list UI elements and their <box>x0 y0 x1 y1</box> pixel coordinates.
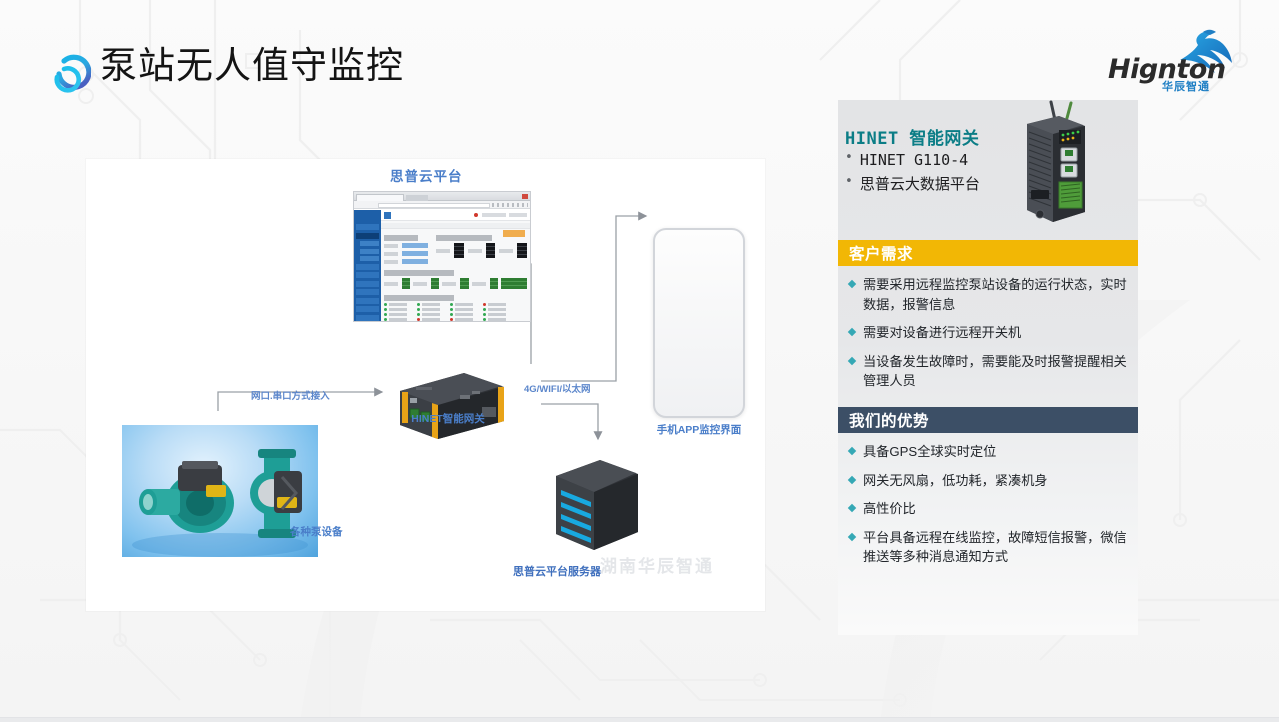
phone-mockup <box>653 228 745 418</box>
dual-circle-logo-icon <box>33 39 91 97</box>
customer-needs-item: 需要对设备进行远程开关机 <box>849 323 1130 343</box>
customer-needs-item-label: 当设备发生故障时，需要能及时报警提醒相关管理人员 <box>863 352 1130 391</box>
page-title: 泵站无人值守监控 <box>100 42 404 90</box>
customer-needs-item-label: 需要采用远程监控泵站设备的运行状态，实时数据，报警信息 <box>863 275 1130 314</box>
customer-needs-item-label: 需要对设备进行远程开关机 <box>863 323 1021 343</box>
pump-caption: 各种泵设备 <box>290 524 343 539</box>
advantages-list: 具备GPS全球实时定位 网关无风扇，低功耗，紧凑机身 高性价比 平台具备远程在线… <box>838 433 1138 573</box>
customer-needs-list: 需要采用远程监控泵站设备的运行状态，实时数据，报警信息 需要对设备进行远程开关机… <box>838 266 1138 397</box>
cloud-server-icon <box>548 446 644 558</box>
customer-needs-heading: 客户需求 <box>838 240 1138 266</box>
advantages-item-label: 高性价比 <box>863 499 916 519</box>
customer-needs-item: 需要采用远程监控泵站设备的运行状态，实时数据，报警信息 <box>849 275 1130 314</box>
advantages-item-label: 网关无风扇，低功耗，紧凑机身 <box>863 471 1048 491</box>
advantages-card: 我们的优势 具备GPS全球实时定位 网关无风扇，低功耗，紧凑机身 高性价比 平台… <box>838 407 1138 573</box>
customer-needs-card: 客户需求 需要采用远程监控泵站设备的运行状态，实时数据，报警信息 需要对设备进行… <box>838 240 1138 397</box>
phone-caption: 手机APP监控界面 <box>651 422 747 437</box>
advantages-item: 平台具备远程在线监控，故障短信报警，微信推送等多种消息通知方式 <box>849 528 1130 567</box>
slide-root: 泵站无人值守监控 Hignton 华辰智通 <box>0 0 1279 722</box>
gateway-product-photo <box>1015 100 1095 228</box>
gateway-spec-item-label: HINET G110-4 <box>860 148 968 172</box>
image-watermark: 湖南华辰智通 <box>600 552 714 577</box>
pump-equipment-photo <box>122 425 318 557</box>
gateway-caption: HINET智能网关 <box>384 411 512 426</box>
solution-diagram-card: 思普云平台 <box>86 159 765 611</box>
advantages-heading: 我们的优势 <box>838 407 1138 433</box>
diamond-bullet-icon <box>848 447 856 455</box>
diamond-bullet-icon <box>848 356 856 364</box>
diamond-bullet-icon <box>848 504 856 512</box>
slide-bottom-rule <box>0 717 1279 722</box>
gateway-spec-list: • HINET G110-4 • 思普云大数据平台 <box>845 148 1035 196</box>
diamond-bullet-icon <box>848 475 856 483</box>
svg-text:华辰智通: 华辰智通 <box>1162 79 1210 93</box>
brand-logo-hignton: Hignton 华辰智通 <box>1104 28 1246 94</box>
cloud-dashboard-screenshot <box>353 191 531 322</box>
bullet-dot-icon: • <box>845 172 853 192</box>
gateway-spec-item: • 思普云大数据平台 <box>845 172 1035 196</box>
dashboard-sidebar <box>354 210 381 321</box>
diamond-bullet-icon <box>848 532 856 540</box>
dashboard-main <box>381 210 530 321</box>
cloud-platform-label: 思普云平台 <box>390 165 463 185</box>
server-caption: 思普云平台服务器 <box>513 563 601 579</box>
advantages-item: 具备GPS全球实时定位 <box>849 442 1130 462</box>
advantages-item-label: 平台具备远程在线监控，故障短信报警，微信推送等多种消息通知方式 <box>863 528 1130 567</box>
gateway-spec-item: • HINET G110-4 <box>845 148 1035 172</box>
bullet-dot-icon: • <box>845 148 853 168</box>
gateway-spec-title: HINET 智能网关 <box>845 124 979 149</box>
diamond-bullet-icon <box>848 280 856 288</box>
hinet-gateway-device-icon <box>386 365 510 443</box>
customer-needs-item: 当设备发生故障时，需要能及时报警提醒相关管理人员 <box>849 352 1130 391</box>
connector-label-port: 网口.串口方式接入 <box>251 388 330 402</box>
advantages-item-label: 具备GPS全球实时定位 <box>863 442 996 462</box>
advantages-item: 网关无风扇，低功耗，紧凑机身 <box>849 471 1130 491</box>
gateway-spec-item-label: 思普云大数据平台 <box>860 172 980 196</box>
connector-label-wireless: 4G/WIFI/以太网 <box>524 381 591 395</box>
advantages-item: 高性价比 <box>849 499 1130 519</box>
diamond-bullet-icon <box>848 328 856 336</box>
